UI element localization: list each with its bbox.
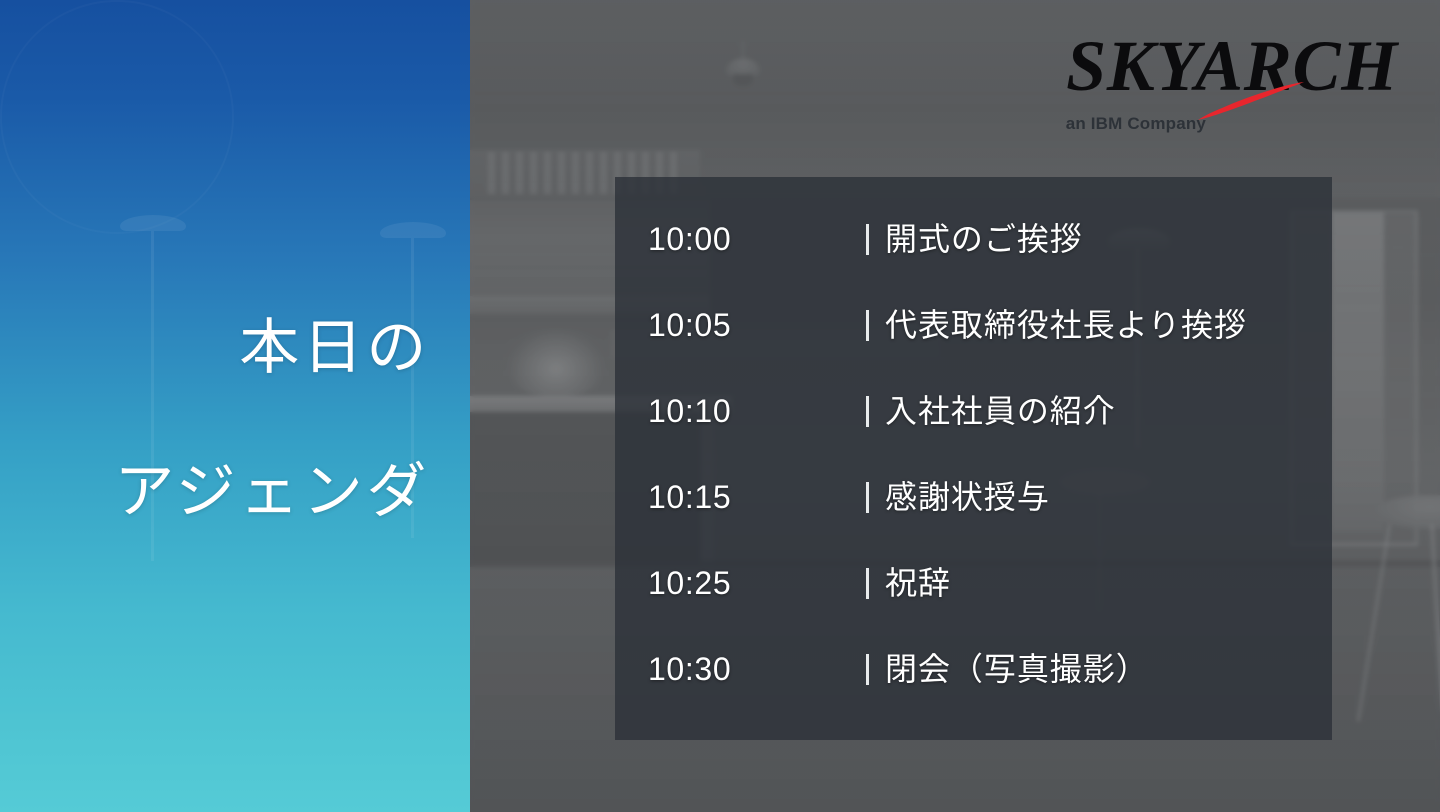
agenda-label: 感謝状授与: [885, 481, 1050, 513]
page-title-line-2: アジェンダ: [0, 462, 430, 522]
agenda-separator: [866, 568, 869, 599]
page-title-line-1: 本日の: [0, 318, 430, 378]
agenda-time: 10:30: [648, 653, 731, 685]
decor-lamp-shade-right: [380, 222, 446, 238]
logo-wordmark: SKYARCH: [1066, 30, 1398, 102]
agenda-separator: [866, 654, 869, 685]
agenda-panel: 10:00開式のご挨拶10:05代表取締役社長より挨拶10:10入社社員の紹介1…: [615, 177, 1332, 740]
agenda-separator: [866, 310, 869, 341]
agenda-time: 10:10: [648, 395, 731, 427]
agenda-time: 10:15: [648, 481, 731, 513]
skyarch-logo: SKYARCH an IBM Company: [1038, 30, 1398, 136]
agenda-row: 10:25祝辞: [615, 559, 1332, 607]
decor-arc: [0, 0, 234, 234]
logo-tagline: an IBM Company: [1066, 114, 1206, 134]
agenda-row: 10:10入社社員の紹介: [615, 387, 1332, 435]
agenda-row: 10:30閉会（写真撮影）: [615, 645, 1332, 693]
agenda-time: 10:25: [648, 567, 731, 599]
agenda-row: 10:00開式のご挨拶: [615, 215, 1332, 263]
agenda-label: 入社社員の紹介: [885, 395, 1116, 427]
agenda-label: 閉会（写真撮影）: [885, 653, 1149, 685]
agenda-row: 10:15感謝状授与: [615, 473, 1332, 521]
agenda-label: 祝辞: [885, 567, 951, 599]
agenda-list: 10:00開式のご挨拶10:05代表取締役社長より挨拶10:10入社社員の紹介1…: [615, 177, 1332, 740]
agenda-separator: [866, 224, 869, 255]
agenda-label: 代表取締役社長より挨拶: [885, 309, 1247, 341]
agenda-separator: [866, 396, 869, 427]
agenda-row: 10:05代表取締役社長より挨拶: [615, 301, 1332, 349]
agenda-separator: [866, 482, 869, 513]
presentation-slide: 本日の アジェンダ SKYARCH an IBM Company 10:00開式…: [0, 0, 1440, 812]
agenda-label: 開式のご挨拶: [885, 223, 1083, 255]
title-panel: 本日の アジェンダ: [0, 0, 470, 812]
agenda-time: 10:00: [648, 223, 731, 255]
agenda-time: 10:05: [648, 309, 731, 341]
